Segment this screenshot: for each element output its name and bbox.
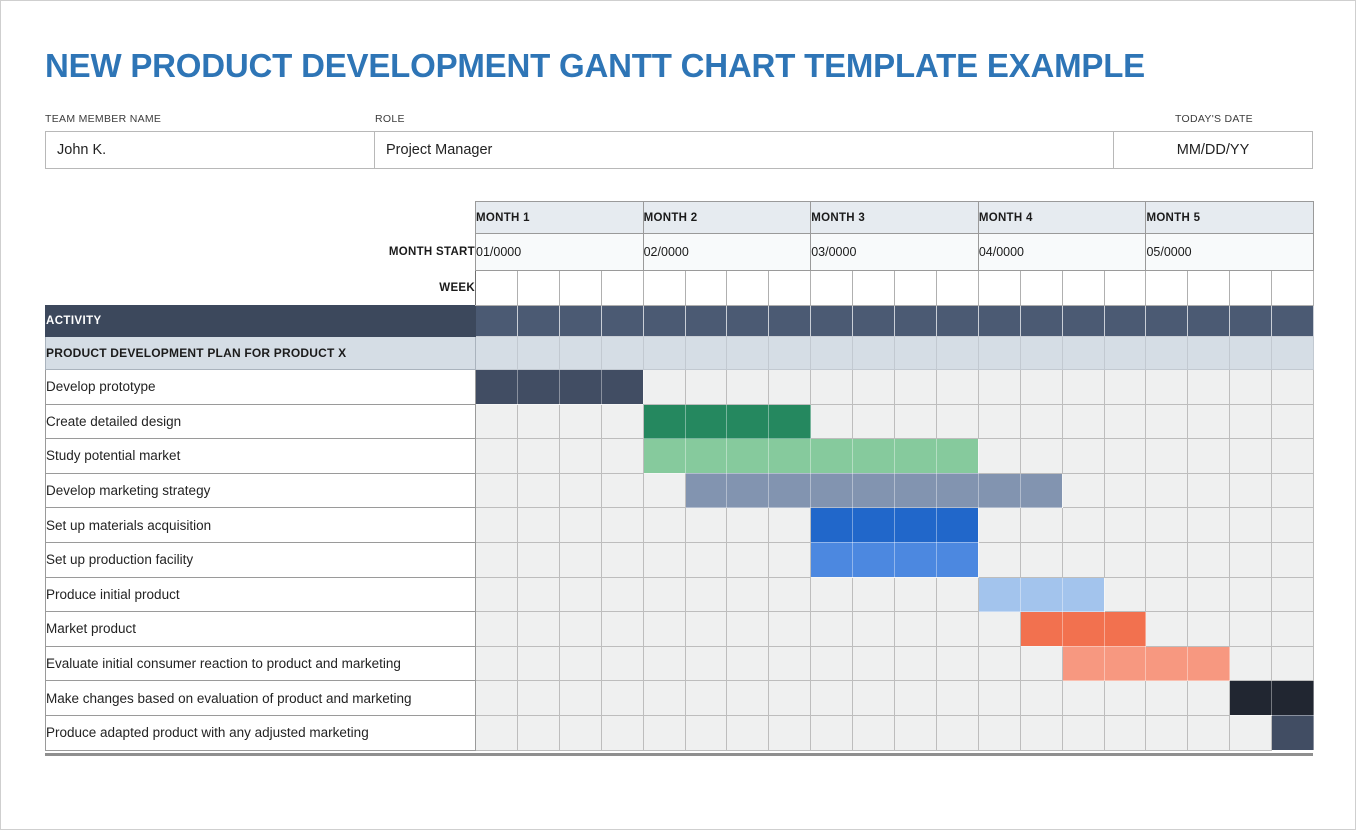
gantt-empty-cell[interactable] (559, 681, 601, 716)
gantt-empty-cell[interactable] (727, 612, 769, 647)
gantt-empty-cell[interactable] (643, 473, 685, 508)
gantt-empty-cell[interactable] (936, 370, 978, 405)
gantt-empty-cell[interactable] (1062, 681, 1104, 716)
gantt-empty-cell[interactable] (895, 715, 937, 750)
activity-header-cell (978, 306, 1020, 337)
gantt-empty-cell[interactable] (476, 715, 518, 750)
gantt-empty-cell[interactable] (978, 439, 1020, 474)
gantt-empty-cell[interactable] (1146, 370, 1188, 405)
gantt-empty-cell[interactable] (978, 646, 1020, 681)
gantt-empty-cell[interactable] (727, 577, 769, 612)
gantt-empty-cell[interactable] (811, 577, 853, 612)
gantt-empty-cell[interactable] (643, 508, 685, 543)
gantt-bar-cell[interactable] (895, 439, 937, 474)
gantt-empty-cell[interactable] (1188, 612, 1230, 647)
activity-header-cell (811, 306, 853, 337)
activity-header-cell (769, 306, 811, 337)
gantt-empty-cell[interactable] (1020, 404, 1062, 439)
page-title: NEW PRODUCT DEVELOPMENT GANTT CHART TEMP… (45, 47, 1315, 85)
gantt-empty-cell[interactable] (1146, 715, 1188, 750)
gantt-bar-cell[interactable] (685, 439, 727, 474)
task-label-1: Develop prototype (46, 370, 476, 405)
gantt-empty-cell[interactable] (601, 473, 643, 508)
gantt-empty-cell[interactable] (1104, 542, 1146, 577)
gantt-empty-cell[interactable] (476, 473, 518, 508)
gantt-empty-cell[interactable] (685, 542, 727, 577)
gantt-bar-cell[interactable] (853, 508, 895, 543)
gantt-bar-cell[interactable] (811, 439, 853, 474)
gantt-bar-cell[interactable] (769, 473, 811, 508)
week-cell-6[interactable] (685, 271, 727, 306)
month-header-5: MONTH 5 (1146, 202, 1314, 234)
gantt-empty-cell[interactable] (769, 681, 811, 716)
gantt-empty-cell[interactable] (727, 681, 769, 716)
gantt-empty-cell[interactable] (1230, 404, 1272, 439)
month-start-value-2[interactable]: 02/0000 (643, 234, 811, 271)
gantt-bar-cell[interactable] (559, 370, 601, 405)
gantt-empty-cell[interactable] (853, 370, 895, 405)
gantt-empty-cell[interactable] (1062, 715, 1104, 750)
week-cell-13[interactable] (978, 271, 1020, 306)
gantt-empty-cell[interactable] (1188, 473, 1230, 508)
month-header-1: MONTH 1 (476, 202, 644, 234)
gantt-empty-cell[interactable] (517, 542, 559, 577)
gantt-empty-cell[interactable] (727, 508, 769, 543)
gantt-empty-cell[interactable] (1020, 542, 1062, 577)
gantt-bar-cell[interactable] (1272, 681, 1314, 716)
gantt-empty-cell[interactable] (517, 508, 559, 543)
gantt-bar-cell[interactable] (1104, 612, 1146, 647)
gantt-empty-cell[interactable] (769, 715, 811, 750)
gantt-empty-cell[interactable] (1146, 473, 1188, 508)
activity-header-cell (1272, 306, 1314, 337)
month-start-value-5[interactable]: 05/0000 (1146, 234, 1314, 271)
gantt-empty-cell[interactable] (559, 508, 601, 543)
team-member-name-field[interactable]: John K. (45, 131, 375, 169)
week-cell-1[interactable] (476, 271, 518, 306)
gantt-empty-cell[interactable] (936, 404, 978, 439)
gantt-bar-cell[interactable] (978, 473, 1020, 508)
gantt-empty-cell[interactable] (978, 370, 1020, 405)
table-row: Develop marketing strategy (46, 473, 1314, 508)
gantt-empty-cell[interactable] (601, 508, 643, 543)
month-header-3: MONTH 3 (811, 202, 979, 234)
gantt-bar-cell[interactable] (811, 542, 853, 577)
gantt-empty-cell[interactable] (1104, 370, 1146, 405)
gantt-empty-cell[interactable] (601, 439, 643, 474)
gantt-empty-cell[interactable] (476, 646, 518, 681)
gantt-empty-cell[interactable] (1272, 646, 1314, 681)
gantt-empty-cell[interactable] (895, 612, 937, 647)
week-cell-10[interactable] (853, 271, 895, 306)
gantt-empty-cell[interactable] (517, 439, 559, 474)
gantt-empty-cell[interactable] (601, 715, 643, 750)
gantt-table: MONTH 1MONTH 2MONTH 3MONTH 4MONTH 5MONTH… (45, 201, 1314, 751)
week-cell-18[interactable] (1188, 271, 1230, 306)
gantt-empty-cell[interactable] (1188, 577, 1230, 612)
gantt-empty-cell[interactable] (1272, 577, 1314, 612)
gantt-empty-cell[interactable] (685, 715, 727, 750)
gantt-bar-cell[interactable] (1146, 646, 1188, 681)
gantt-empty-cell[interactable] (727, 646, 769, 681)
gantt-empty-cell[interactable] (643, 681, 685, 716)
gantt-empty-cell[interactable] (811, 681, 853, 716)
gantt-bar-cell[interactable] (853, 542, 895, 577)
gantt-empty-cell[interactable] (978, 681, 1020, 716)
task-label-10: Make changes based on evaluation of prod… (46, 681, 476, 716)
gantt-empty-cell[interactable] (1104, 681, 1146, 716)
activity-header-cell (1146, 306, 1188, 337)
gantt-bar-cell[interactable] (476, 370, 518, 405)
gantt-empty-cell[interactable] (895, 404, 937, 439)
week-cell-9[interactable] (811, 271, 853, 306)
gantt-empty-cell[interactable] (769, 612, 811, 647)
gantt-empty-cell[interactable] (769, 646, 811, 681)
gantt-empty-cell[interactable] (1272, 404, 1314, 439)
table-row: Evaluate initial consumer reaction to pr… (46, 646, 1314, 681)
table-row: Produce initial product (46, 577, 1314, 612)
table-row: Set up materials acquisition (46, 508, 1314, 543)
gantt-empty-cell[interactable] (1272, 370, 1314, 405)
gantt-empty-cell[interactable] (1230, 473, 1272, 508)
gantt-bar-cell[interactable] (1062, 577, 1104, 612)
gantt-empty-cell[interactable] (1020, 646, 1062, 681)
section-title-cell (1188, 337, 1230, 370)
week-cell-11[interactable] (895, 271, 937, 306)
month-start-value-3[interactable]: 03/0000 (811, 234, 979, 271)
gantt-empty-cell[interactable] (476, 542, 518, 577)
gantt-empty-cell[interactable] (895, 577, 937, 612)
gantt-empty-cell[interactable] (1104, 508, 1146, 543)
gantt-empty-cell[interactable] (1020, 681, 1062, 716)
month-header-spacer (46, 202, 476, 234)
gantt-empty-cell[interactable] (1188, 404, 1230, 439)
gantt-empty-cell[interactable] (895, 370, 937, 405)
week-cell-5[interactable] (643, 271, 685, 306)
gantt-empty-cell[interactable] (1062, 370, 1104, 405)
week-cell-3[interactable] (559, 271, 601, 306)
gantt-empty-cell[interactable] (811, 612, 853, 647)
gantt-empty-cell[interactable] (1062, 542, 1104, 577)
gantt-empty-cell[interactable] (853, 681, 895, 716)
gantt-empty-cell[interactable] (769, 370, 811, 405)
week-cell-15[interactable] (1062, 271, 1104, 306)
gantt-bar-cell[interactable] (1062, 646, 1104, 681)
gantt-bar-cell[interactable] (643, 404, 685, 439)
gantt-empty-cell[interactable] (1104, 577, 1146, 612)
section-title-cell (1230, 337, 1272, 370)
gantt-empty-cell[interactable] (476, 681, 518, 716)
gantt-empty-cell[interactable] (978, 542, 1020, 577)
gantt-empty-cell[interactable] (476, 612, 518, 647)
gantt-bar-cell[interactable] (727, 404, 769, 439)
gantt-empty-cell[interactable] (1146, 542, 1188, 577)
gantt-empty-cell[interactable] (1104, 439, 1146, 474)
task-label-8: Market product (46, 612, 476, 647)
gantt-empty-cell[interactable] (1020, 715, 1062, 750)
gantt-empty-cell[interactable] (476, 439, 518, 474)
task-label-7: Produce initial product (46, 577, 476, 612)
section-title-cell (1062, 337, 1104, 370)
month-start-row: MONTH START01/000002/000003/000004/00000… (46, 234, 1314, 271)
gantt-bar-cell[interactable] (769, 404, 811, 439)
gantt-empty-cell[interactable] (685, 612, 727, 647)
gantt-empty-cell[interactable] (1230, 542, 1272, 577)
activity-header-cell (643, 306, 685, 337)
gantt-empty-cell[interactable] (601, 577, 643, 612)
gantt-empty-cell[interactable] (769, 577, 811, 612)
gantt-empty-cell[interactable] (643, 715, 685, 750)
week-row: WEEK (46, 271, 1314, 306)
gantt-empty-cell[interactable] (517, 612, 559, 647)
gantt-bar-cell[interactable] (517, 370, 559, 405)
gantt-bar-cell[interactable] (895, 473, 937, 508)
gantt-bar-cell[interactable] (1020, 612, 1062, 647)
gantt-empty-cell[interactable] (1104, 404, 1146, 439)
week-cell-2[interactable] (517, 271, 559, 306)
gantt-empty-cell[interactable] (936, 612, 978, 647)
gantt-empty-cell[interactable] (811, 715, 853, 750)
gantt-empty-cell[interactable] (727, 542, 769, 577)
gantt-empty-cell[interactable] (1188, 508, 1230, 543)
gantt-empty-cell[interactable] (476, 577, 518, 612)
gantt-empty-cell[interactable] (1272, 542, 1314, 577)
table-row: Study potential market (46, 439, 1314, 474)
gantt-bar-cell[interactable] (895, 508, 937, 543)
meta-label-row: TEAM MEMBER NAME ROLE TODAY'S DATE (45, 113, 1313, 129)
week-cell-14[interactable] (1020, 271, 1062, 306)
gantt-empty-cell[interactable] (559, 715, 601, 750)
gantt-empty-cell[interactable] (517, 404, 559, 439)
gantt-empty-cell[interactable] (1188, 370, 1230, 405)
week-cell-7[interactable] (727, 271, 769, 306)
gantt-empty-cell[interactable] (601, 681, 643, 716)
gantt-bar-cell[interactable] (811, 508, 853, 543)
gantt-empty-cell[interactable] (1230, 577, 1272, 612)
gantt-empty-cell[interactable] (1146, 439, 1188, 474)
gantt-empty-cell[interactable] (601, 404, 643, 439)
gantt-empty-cell[interactable] (559, 542, 601, 577)
week-cell-17[interactable] (1146, 271, 1188, 306)
gantt-empty-cell[interactable] (978, 612, 1020, 647)
table-row: Produce adapted product with any adjuste… (46, 715, 1314, 750)
gantt-empty-cell[interactable] (853, 404, 895, 439)
week-cell-8[interactable] (769, 271, 811, 306)
gantt-empty-cell[interactable] (559, 646, 601, 681)
gantt-empty-cell[interactable] (601, 542, 643, 577)
activity-header-cell (895, 306, 937, 337)
gantt-empty-cell[interactable] (895, 646, 937, 681)
gantt-empty-cell[interactable] (853, 715, 895, 750)
gantt-empty-cell[interactable] (936, 681, 978, 716)
gantt-empty-cell[interactable] (1146, 612, 1188, 647)
section-title-cell (643, 337, 685, 370)
gantt-empty-cell[interactable] (895, 681, 937, 716)
gantt-empty-cell[interactable] (517, 681, 559, 716)
gantt-empty-cell[interactable] (1272, 439, 1314, 474)
gantt-empty-cell[interactable] (1188, 681, 1230, 716)
month-header-row: MONTH 1MONTH 2MONTH 3MONTH 4MONTH 5 (46, 202, 1314, 234)
gantt-empty-cell[interactable] (685, 577, 727, 612)
gantt-empty-cell[interactable] (1230, 370, 1272, 405)
gantt-empty-cell[interactable] (643, 646, 685, 681)
role-label: ROLE (375, 113, 1115, 129)
section-title-cell (978, 337, 1020, 370)
gantt-empty-cell[interactable] (769, 542, 811, 577)
week-cell-12[interactable] (936, 271, 978, 306)
gantt-bar-cell[interactable] (936, 473, 978, 508)
section-title-cell (895, 337, 937, 370)
gantt-empty-cell[interactable] (559, 577, 601, 612)
gantt-empty-cell[interactable] (936, 577, 978, 612)
gantt-empty-cell[interactable] (978, 404, 1020, 439)
section-title-cell (811, 337, 853, 370)
gantt-bar-cell[interactable] (936, 439, 978, 474)
section-title-cell (1272, 337, 1314, 370)
gantt-empty-cell[interactable] (559, 473, 601, 508)
gantt-empty-cell[interactable] (1188, 715, 1230, 750)
activity-header-cell (476, 306, 518, 337)
gantt-bar-cell[interactable] (727, 473, 769, 508)
task-label-9: Evaluate initial consumer reaction to pr… (46, 646, 476, 681)
gantt-empty-cell[interactable] (1146, 508, 1188, 543)
table-row: Create detailed design (46, 404, 1314, 439)
gantt-empty-cell[interactable] (643, 577, 685, 612)
gantt-empty-cell[interactable] (1230, 508, 1272, 543)
gantt-empty-cell[interactable] (1104, 473, 1146, 508)
gantt-empty-cell[interactable] (1188, 542, 1230, 577)
gantt-empty-cell[interactable] (811, 370, 853, 405)
month-header-2: MONTH 2 (643, 202, 811, 234)
gantt-bar-cell[interactable] (811, 473, 853, 508)
role-field[interactable]: Project Manager (374, 131, 1114, 169)
gantt-bar-cell[interactable] (1020, 577, 1062, 612)
section-title-cell (853, 337, 895, 370)
gantt-bar-cell[interactable] (1104, 646, 1146, 681)
gantt-empty-cell[interactable] (853, 577, 895, 612)
gantt-empty-cell[interactable] (1230, 715, 1272, 750)
gantt-empty-cell[interactable] (517, 715, 559, 750)
gantt-empty-cell[interactable] (601, 612, 643, 647)
gantt-bar-cell[interactable] (769, 439, 811, 474)
section-title-cell (936, 337, 978, 370)
week-cell-4[interactable] (601, 271, 643, 306)
gantt-empty-cell[interactable] (476, 508, 518, 543)
gantt-empty-cell[interactable] (1272, 508, 1314, 543)
gantt-empty-cell[interactable] (1272, 473, 1314, 508)
todays-date-label: TODAY'S DATE (1115, 113, 1313, 129)
gantt-empty-cell[interactable] (1062, 508, 1104, 543)
gantt-empty-cell[interactable] (1230, 612, 1272, 647)
gantt-empty-cell[interactable] (853, 612, 895, 647)
gantt-empty-cell[interactable] (1104, 715, 1146, 750)
gantt-empty-cell[interactable] (936, 715, 978, 750)
gantt-bar-cell[interactable] (685, 473, 727, 508)
gantt-empty-cell[interactable] (1062, 404, 1104, 439)
gantt-empty-cell[interactable] (978, 715, 1020, 750)
gantt-bar-cell[interactable] (1062, 612, 1104, 647)
gantt-empty-cell[interactable] (517, 577, 559, 612)
week-cell-19[interactable] (1230, 271, 1272, 306)
gantt-bar-cell[interactable] (853, 473, 895, 508)
gantt-empty-cell[interactable] (1146, 404, 1188, 439)
gantt-empty-cell[interactable] (1146, 577, 1188, 612)
gantt-empty-cell[interactable] (1020, 508, 1062, 543)
gantt-empty-cell[interactable] (1146, 681, 1188, 716)
gantt-bar-cell[interactable] (1230, 681, 1272, 716)
gantt-empty-cell[interactable] (685, 681, 727, 716)
gantt-bar-cell[interactable] (727, 439, 769, 474)
gantt-bar-cell[interactable] (895, 542, 937, 577)
gantt-empty-cell[interactable] (811, 646, 853, 681)
gantt-empty-cell[interactable] (853, 646, 895, 681)
gantt-chart-page: NEW PRODUCT DEVELOPMENT GANTT CHART TEMP… (0, 0, 1356, 830)
week-cell-16[interactable] (1104, 271, 1146, 306)
gantt-empty-cell[interactable] (1020, 439, 1062, 474)
gantt-empty-cell[interactable] (517, 646, 559, 681)
gantt-bar-cell[interactable] (685, 404, 727, 439)
gantt-empty-cell[interactable] (727, 370, 769, 405)
gantt-bar-cell[interactable] (936, 508, 978, 543)
gantt-empty-cell[interactable] (769, 508, 811, 543)
gantt-empty-cell[interactable] (559, 439, 601, 474)
month-start-value-1[interactable]: 01/0000 (476, 234, 644, 271)
gantt-bar-cell[interactable] (1272, 715, 1314, 750)
gantt-bar-cell[interactable] (936, 542, 978, 577)
gantt-empty-cell[interactable] (1062, 473, 1104, 508)
section-title-cell (1104, 337, 1146, 370)
gantt-empty-cell[interactable] (1188, 439, 1230, 474)
gantt-empty-cell[interactable] (1062, 439, 1104, 474)
activity-header-label: ACTIVITY (46, 306, 476, 337)
gantt-bar-cell[interactable] (643, 439, 685, 474)
gantt-empty-cell[interactable] (936, 646, 978, 681)
gantt-empty-cell[interactable] (685, 370, 727, 405)
gantt-empty-cell[interactable] (685, 646, 727, 681)
activity-header-cell (517, 306, 559, 337)
gantt-empty-cell[interactable] (1230, 646, 1272, 681)
gantt-empty-cell[interactable] (685, 508, 727, 543)
gantt-bar-cell[interactable] (1188, 646, 1230, 681)
gantt-bar-cell[interactable] (601, 370, 643, 405)
gantt-empty-cell[interactable] (601, 646, 643, 681)
gantt-empty-cell[interactable] (1230, 439, 1272, 474)
gantt-bar-cell[interactable] (978, 577, 1020, 612)
activity-header-cell (559, 306, 601, 337)
gantt-empty-cell[interactable] (811, 404, 853, 439)
gantt-empty-cell[interactable] (643, 542, 685, 577)
gantt-empty-cell[interactable] (1020, 370, 1062, 405)
gantt-empty-cell[interactable] (978, 508, 1020, 543)
gantt-empty-cell[interactable] (559, 404, 601, 439)
activity-header-cell (601, 306, 643, 337)
gantt-empty-cell[interactable] (476, 404, 518, 439)
section-title-cell (476, 337, 518, 370)
gantt-bar-cell[interactable] (853, 439, 895, 474)
gantt-empty-cell[interactable] (727, 715, 769, 750)
gantt-bar-cell[interactable] (1020, 473, 1062, 508)
month-start-value-4[interactable]: 04/0000 (978, 234, 1146, 271)
gantt-empty-cell[interactable] (1272, 612, 1314, 647)
section-title-cell (727, 337, 769, 370)
gantt-empty-cell[interactable] (517, 473, 559, 508)
gantt-empty-cell[interactable] (643, 370, 685, 405)
todays-date-field[interactable]: MM/DD/YY (1113, 131, 1313, 169)
week-cell-20[interactable] (1272, 271, 1314, 306)
gantt-empty-cell[interactable] (559, 612, 601, 647)
gantt-empty-cell[interactable] (643, 612, 685, 647)
activity-header-cell (685, 306, 727, 337)
